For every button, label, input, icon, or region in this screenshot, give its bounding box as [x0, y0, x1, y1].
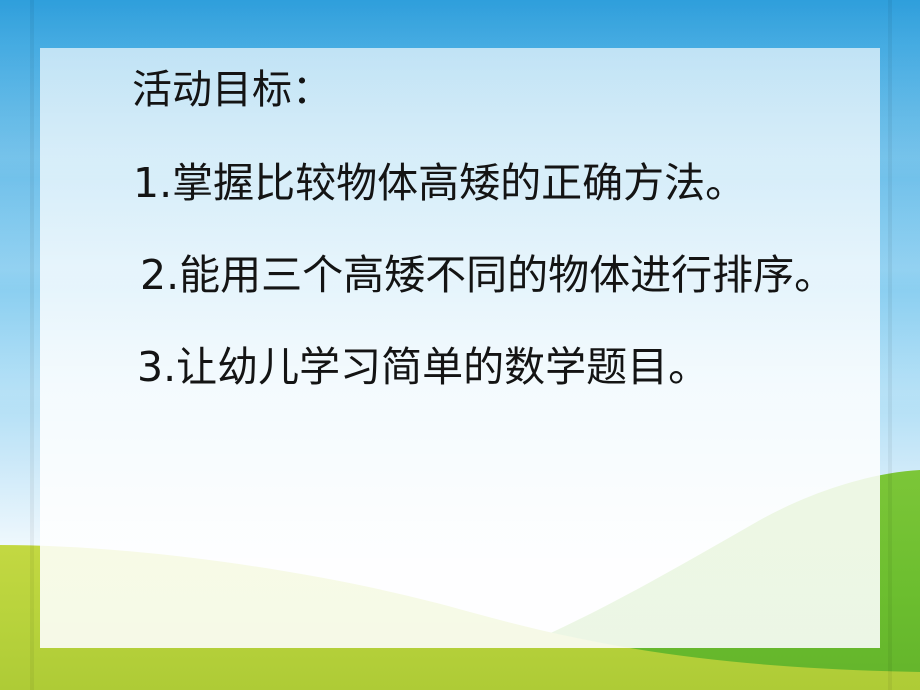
- slide-canvas: 活动目标： 1.掌握比较物体高矮的正确方法。 2.能用三个高矮不同的物体进行排序…: [0, 0, 920, 690]
- text-layer: 活动目标： 1.掌握比较物体高矮的正确方法。 2.能用三个高矮不同的物体进行排序…: [40, 48, 880, 648]
- objective-item-1: 1.掌握比较物体高矮的正确方法。: [133, 163, 746, 204]
- frame-shade-right: [888, 0, 892, 690]
- frame-shade-left: [30, 0, 34, 690]
- slide-title: 活动目标：: [132, 70, 332, 110]
- objective-item-2: 2.能用三个高矮不同的物体进行排序。: [140, 255, 835, 296]
- objective-item-3: 3.让幼儿学习简单的数学题目。: [137, 347, 709, 388]
